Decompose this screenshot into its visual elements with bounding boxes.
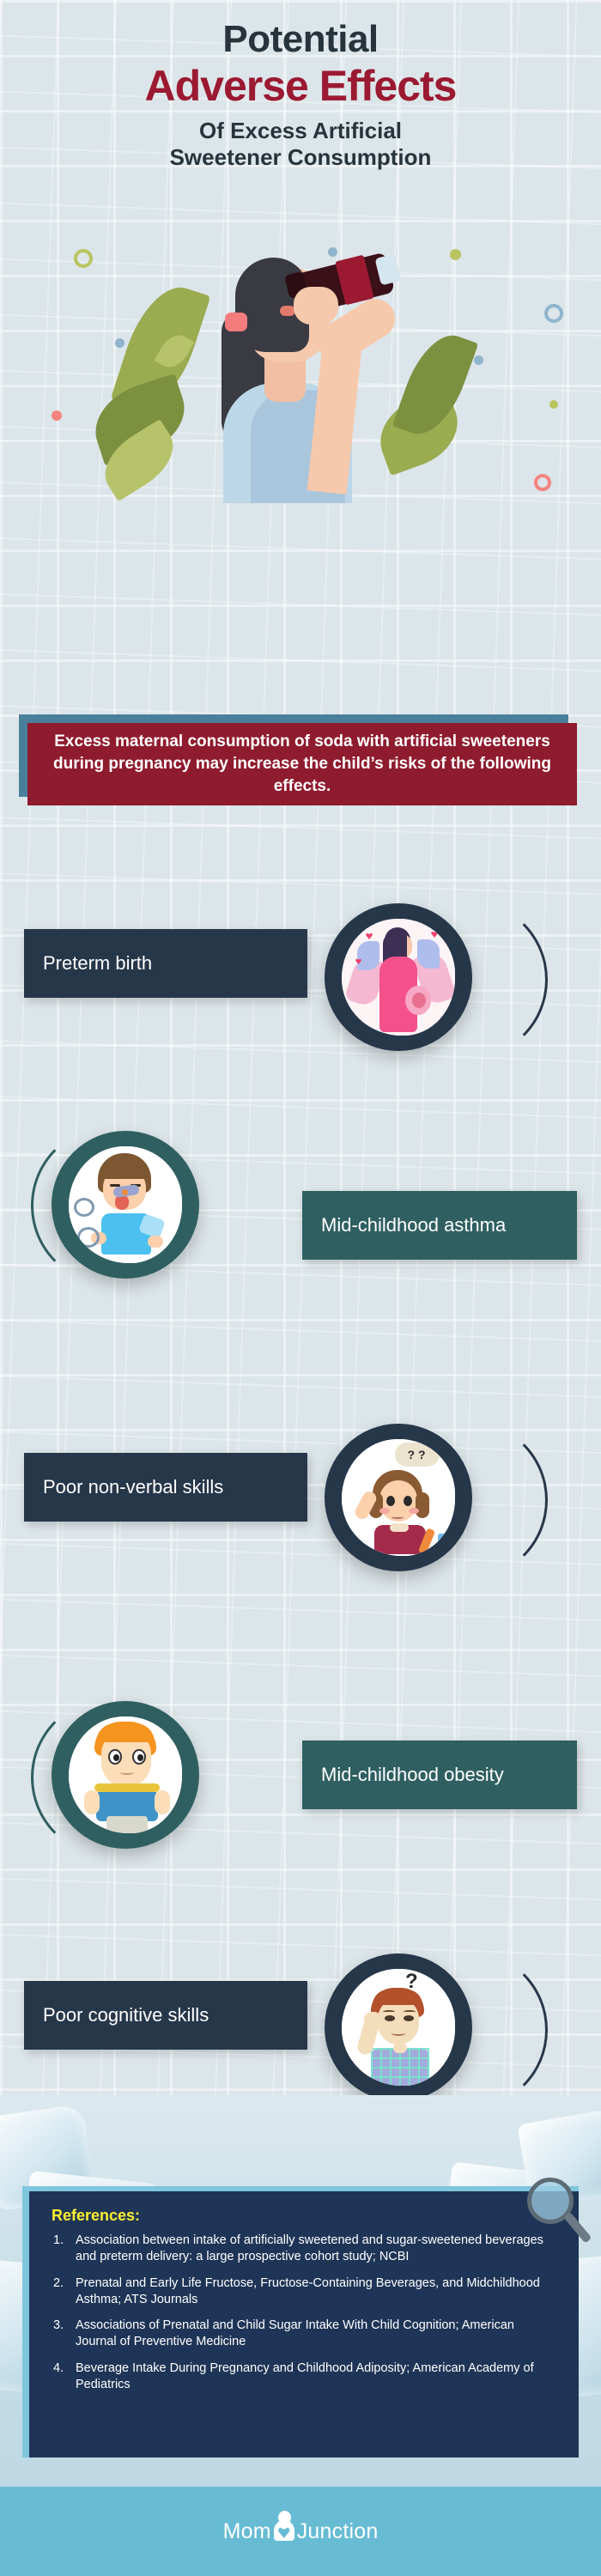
reference-item: Association between intake of artificial… (52, 2233, 556, 2266)
effect-row-3: ? ? Poor non-v (0, 1400, 601, 1580)
logo-text-junction: Junction (297, 2519, 379, 2544)
decor-dot (115, 338, 124, 348)
effect-label-2-text: Mid-childhood asthma (321, 1212, 506, 1237)
effect-label-4-text: Mid-childhood obesity (321, 1762, 504, 1787)
hand (294, 287, 338, 325)
title-line-adverse-effects: Adverse Effects (0, 64, 601, 109)
effect-row-2: Mid-childhood asthma (0, 1103, 601, 1284)
page-header: Potential Adverse Effects Of Excess Arti… (0, 0, 601, 172)
effect-row-1: Preterm birth (0, 884, 601, 1065)
decor-ring (74, 249, 93, 268)
coughing-child-icon (69, 1146, 182, 1263)
confused-boy-icon: ? (342, 1969, 455, 2086)
effect-badge-4 (52, 1701, 199, 1849)
effect-badge-1 (325, 903, 472, 1051)
effect-badge-5: ? (325, 1953, 472, 2101)
effect-row-5: ? Poor cognitive skills (0, 1928, 601, 2108)
effect-row-4: Mid-childhood obesity (0, 1679, 601, 1859)
effect-label-5: Poor cognitive skills (24, 1981, 307, 2050)
subtitle-line-1: Of Excess Artificial (0, 118, 601, 145)
hair-tie (225, 313, 247, 331)
references-panel: References: Association between intake o… (29, 2191, 579, 2458)
pregnant-woman-icon (342, 919, 455, 1036)
confused-girl-icon: ? ? (342, 1439, 455, 1556)
hero-illustration-woman-drinking-soda (0, 232, 601, 489)
reference-item: Beverage Intake During Pregnancy and Chi… (52, 2360, 556, 2394)
reference-item: Prenatal and Early Life Fructose, Fructo… (52, 2275, 556, 2309)
decor-dot (52, 410, 62, 421)
effect-badge-2 (52, 1131, 199, 1279)
woman-figure (168, 239, 426, 496)
decor-ring (534, 474, 551, 491)
effect-label-1-text: Preterm birth (43, 951, 152, 975)
effect-badge-3: ? ? (325, 1424, 472, 1571)
overweight-child-icon (69, 1716, 182, 1833)
decor-dot (474, 355, 483, 365)
footer-bar: Mom Junction (0, 2487, 601, 2576)
effect-label-3-text: Poor non-verbal skills (43, 1474, 223, 1499)
effect-label-4: Mid-childhood obesity (302, 1741, 577, 1809)
decor-dot (549, 400, 558, 409)
logo-text-mom: Mom (223, 2519, 271, 2544)
references-title: References: (52, 2207, 556, 2225)
title-line-potential: Potential (0, 21, 601, 58)
effect-label-2: Mid-childhood asthma (302, 1191, 577, 1260)
momjunction-logo[interactable]: Mom Junction (223, 2516, 379, 2547)
magnifier-icon (524, 2174, 589, 2257)
effect-label-5-text: Poor cognitive skills (43, 2002, 209, 2027)
decor-ring (544, 304, 563, 323)
decor-dot (450, 249, 461, 260)
reference-item: Associations of Prenatal and Child Sugar… (52, 2318, 556, 2351)
infographic-page: Potential Adverse Effects Of Excess Arti… (0, 0, 601, 2576)
subtitle-line-2: Sweetener Consumption (0, 144, 601, 172)
references-list: Association between intake of artificial… (52, 2233, 556, 2393)
magnifier-handle (563, 2212, 592, 2244)
effect-label-3: Poor non-verbal skills (24, 1453, 307, 1522)
mom-and-baby-logo-icon (273, 2516, 295, 2547)
statement-banner: Excess maternal consumption of soda with… (27, 723, 577, 805)
effect-label-1: Preterm birth (24, 929, 307, 998)
